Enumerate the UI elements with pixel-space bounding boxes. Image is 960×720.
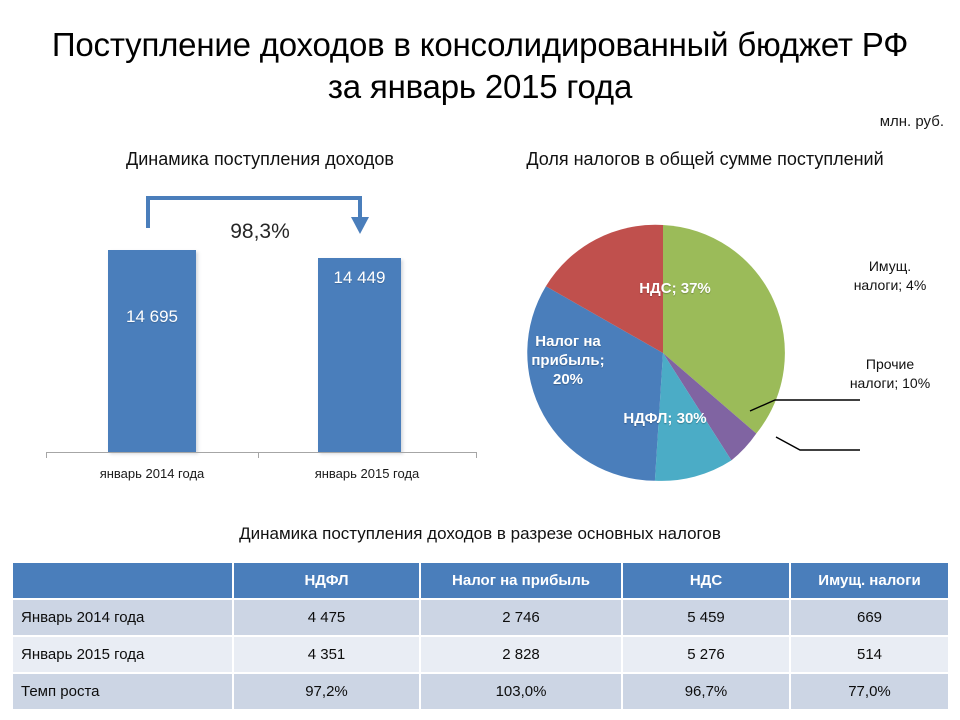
revenue-table: НДФЛ Налог на прибыль НДС Имущ. налоги Я… (13, 563, 948, 711)
table-cell-profit: 2 828 (420, 636, 622, 673)
table-header-ndfl: НДФЛ (233, 563, 420, 599)
pie-callout-property-taxes: Имущ. налоги; 4% (830, 257, 950, 295)
table-header-property-tax: Имущ. налоги (790, 563, 948, 599)
table-row: Январь 2015 года 4 351 2 828 5 276 514 (13, 636, 948, 673)
callout-other-line2: налоги; 10% (850, 375, 930, 391)
axis-tick-right (476, 452, 477, 458)
table-cell-ndfl: 4 351 (233, 636, 420, 673)
table-header-profit-tax: Налог на прибыль (420, 563, 622, 599)
growth-rate-label: 98,3% (150, 220, 370, 244)
table-cell-profit: 103,0% (420, 673, 622, 710)
pie-callout-other-taxes: Прочие налоги; 10% (830, 355, 950, 393)
axis-label-january-2014: январь 2014 года (46, 466, 258, 481)
bar-value-2014: 14 695 (108, 307, 196, 327)
bar-chart: 98,3% 14 695 14 449 январь 2014 года янв… (0, 180, 490, 500)
table-cell-row-label: Темп роста (13, 673, 233, 710)
table-cell-profit: 2 746 (420, 599, 622, 636)
bar-chart-title: Динамика поступления доходов (30, 148, 490, 171)
table-cell-row-label: Январь 2015 года (13, 636, 233, 673)
axis-tick-left (46, 452, 47, 458)
table-cell-ndfl: 97,2% (233, 673, 420, 710)
table-title: Динамика поступления доходов в разрезе о… (30, 524, 930, 544)
page-title: Поступление доходов в консолидированный … (40, 24, 920, 108)
table-cell-nds: 5 459 (622, 599, 790, 636)
table-cell-ndfl: 4 475 (233, 599, 420, 636)
table-cell-property: 77,0% (790, 673, 948, 710)
axis-tick-middle (258, 452, 259, 458)
table-cell-nds: 5 276 (622, 636, 790, 673)
callout-other-line1: Прочие (866, 356, 914, 372)
table-cell-property: 669 (790, 599, 948, 636)
table-cell-nds: 96,7% (622, 673, 790, 710)
pie-chart-title: Доля налогов в общей сумме поступлений (505, 148, 905, 171)
callout-leader-other (776, 437, 860, 450)
bar-january-2014 (108, 250, 196, 452)
pie-label-nds: НДС; 37% (610, 280, 740, 299)
units-label: млн. руб. (880, 113, 944, 130)
table-cell-property: 514 (790, 636, 948, 673)
pie-chart: НДС; 37% Налог на прибыль; 20% НДФЛ; 30%… (500, 215, 960, 505)
table-header-nds: НДС (622, 563, 790, 599)
table-row: Темп роста 97,2% 103,0% 96,7% 77,0% (13, 673, 948, 710)
table-row: Январь 2014 года 4 475 2 746 5 459 669 (13, 599, 948, 636)
callout-property-line2: налоги; 4% (854, 277, 927, 293)
table-cell-row-label: Январь 2014 года (13, 599, 233, 636)
pie-label-ndfl: НДФЛ; 30% (595, 410, 735, 429)
axis-label-january-2015: январь 2015 года (258, 466, 476, 481)
bar-chart-axis (46, 452, 476, 453)
pie-label-profit: Налог на прибыль; 20% (520, 333, 616, 389)
table-header-corner (13, 563, 233, 599)
table-header-row: НДФЛ Налог на прибыль НДС Имущ. налоги (13, 563, 948, 599)
callout-property-line1: Имущ. (869, 258, 911, 274)
bar-value-2015: 14 449 (318, 268, 401, 288)
